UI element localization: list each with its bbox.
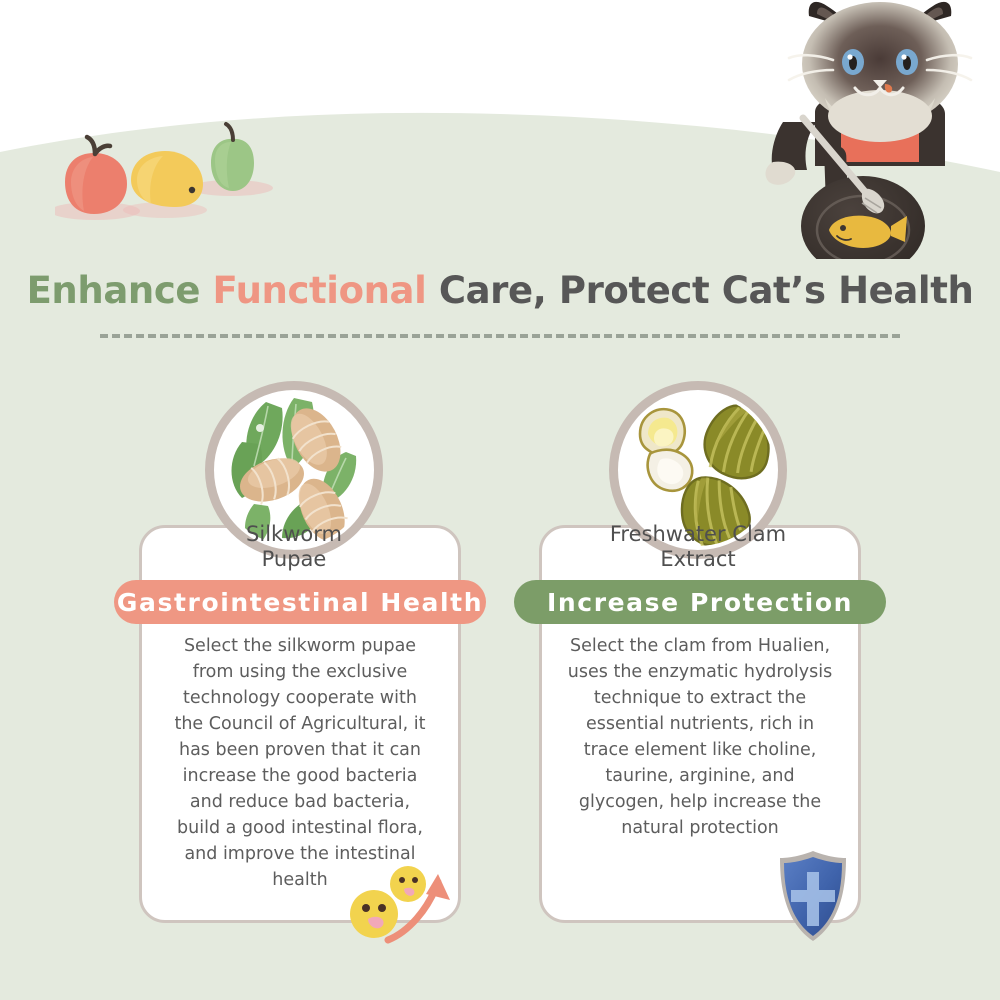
closed-clam-top (699, 400, 777, 483)
card-body-silkworm-pupae: Select the silkworm pupae from using the… (166, 633, 434, 893)
red-apple-icon (65, 137, 127, 214)
yellow-pear-icon (131, 151, 203, 207)
card-body-freshwater-clam: Select the clam from Hualien, uses the e… (566, 633, 834, 841)
protection-shield-illustration (776, 848, 850, 944)
bacteria-large (350, 890, 398, 938)
happy-bacteria-illustration (346, 862, 456, 952)
medallion-silkworm-pupae: Silkworm Pupae (205, 381, 383, 559)
medallion-label-silkworm: Silkworm Pupae (174, 522, 414, 572)
bacteria-small (390, 866, 426, 902)
medallion-label-clam: Freshwater Clam Extract (578, 522, 818, 572)
title-dashed-divider (100, 334, 900, 338)
banner-increase-protection: Increase Protection (514, 580, 886, 624)
open-clam (640, 409, 692, 491)
banner-gastrointestinal-health: Gastrointestinal Health (114, 580, 486, 624)
green-apple-icon (211, 124, 254, 191)
title-part-functional: Functional (213, 269, 439, 312)
poster-canvas: Enhance Functional Care, Protect Cat’s H… (0, 0, 1000, 1000)
fruit-trio-illustration (55, 118, 290, 223)
medallion-freshwater-clam: Freshwater Clam Extract (609, 381, 787, 559)
title-part-rest: Care, Protect Cat’s Health (439, 269, 974, 312)
title-part-enhance: Enhance (27, 269, 213, 312)
chef-cat-illustration (755, 0, 1000, 259)
page-title: Enhance Functional Care, Protect Cat’s H… (0, 272, 1000, 309)
